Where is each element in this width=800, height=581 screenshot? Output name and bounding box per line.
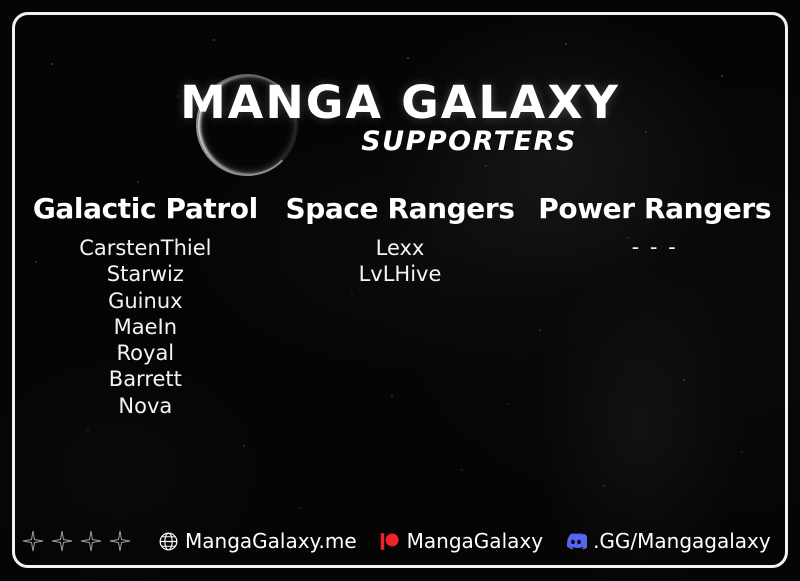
tier-member-list: Lexx LvLHive	[273, 235, 528, 288]
patreon-link[interactable]: MangaGalaxy	[379, 529, 543, 553]
discord-link-label: .GG/Mangagalaxy	[593, 529, 771, 553]
list-item: Lexx	[273, 235, 528, 261]
tier-member-list: CarstenThiel Starwiz Guinux MaeIn Royal …	[18, 235, 273, 419]
list-item: Starwiz	[18, 261, 273, 287]
page-title: MANGA GALAXY	[0, 76, 800, 129]
sparkle-icon	[109, 530, 131, 552]
social-links: MangaGalaxy.me MangaGalaxy .GG/Mang	[157, 529, 771, 553]
patreon-icon	[379, 530, 401, 552]
list-item: Nova	[18, 393, 273, 419]
list-item: CarstenThiel	[18, 235, 273, 261]
tier-title: Power Rangers	[527, 192, 782, 226]
page-subtitle: SUPPORTERS	[0, 126, 800, 157]
sparkle-icon	[51, 530, 73, 552]
tier-column-galactic-patrol: Galactic Patrol CarstenThiel Starwiz Gui…	[18, 192, 273, 419]
list-item: MaeIn	[18, 314, 273, 340]
tier-column-power-rangers: Power Rangers - - -	[527, 192, 782, 259]
patreon-link-label: MangaGalaxy	[407, 529, 543, 553]
tier-empty-placeholder: - - -	[527, 235, 782, 259]
globe-icon	[157, 530, 179, 552]
discord-link[interactable]: .GG/Mangagalaxy	[565, 529, 771, 553]
sparkle-group	[22, 530, 131, 552]
list-item: Guinux	[18, 288, 273, 314]
website-link-label: MangaGalaxy.me	[185, 529, 357, 553]
website-link[interactable]: MangaGalaxy.me	[157, 529, 357, 553]
sparkle-icon	[22, 530, 44, 552]
tier-columns: Galactic Patrol CarstenThiel Starwiz Gui…	[18, 192, 782, 419]
tier-title: Space Rangers	[273, 192, 528, 226]
tier-column-space-rangers: Space Rangers Lexx LvLHive	[273, 192, 528, 288]
tier-title: Galactic Patrol	[18, 192, 273, 226]
list-item: LvLHive	[273, 261, 528, 287]
footer: MangaGalaxy.me MangaGalaxy .GG/Mang	[22, 523, 778, 559]
logo-block: MANGA GALAXY SUPPORTERS	[0, 34, 800, 154]
supporters-poster: MANGA GALAXY SUPPORTERS Galactic Patrol …	[0, 0, 800, 581]
list-item: Barrett	[18, 366, 273, 392]
discord-icon	[565, 530, 587, 552]
sparkle-icon	[80, 530, 102, 552]
list-item: Royal	[18, 340, 273, 366]
